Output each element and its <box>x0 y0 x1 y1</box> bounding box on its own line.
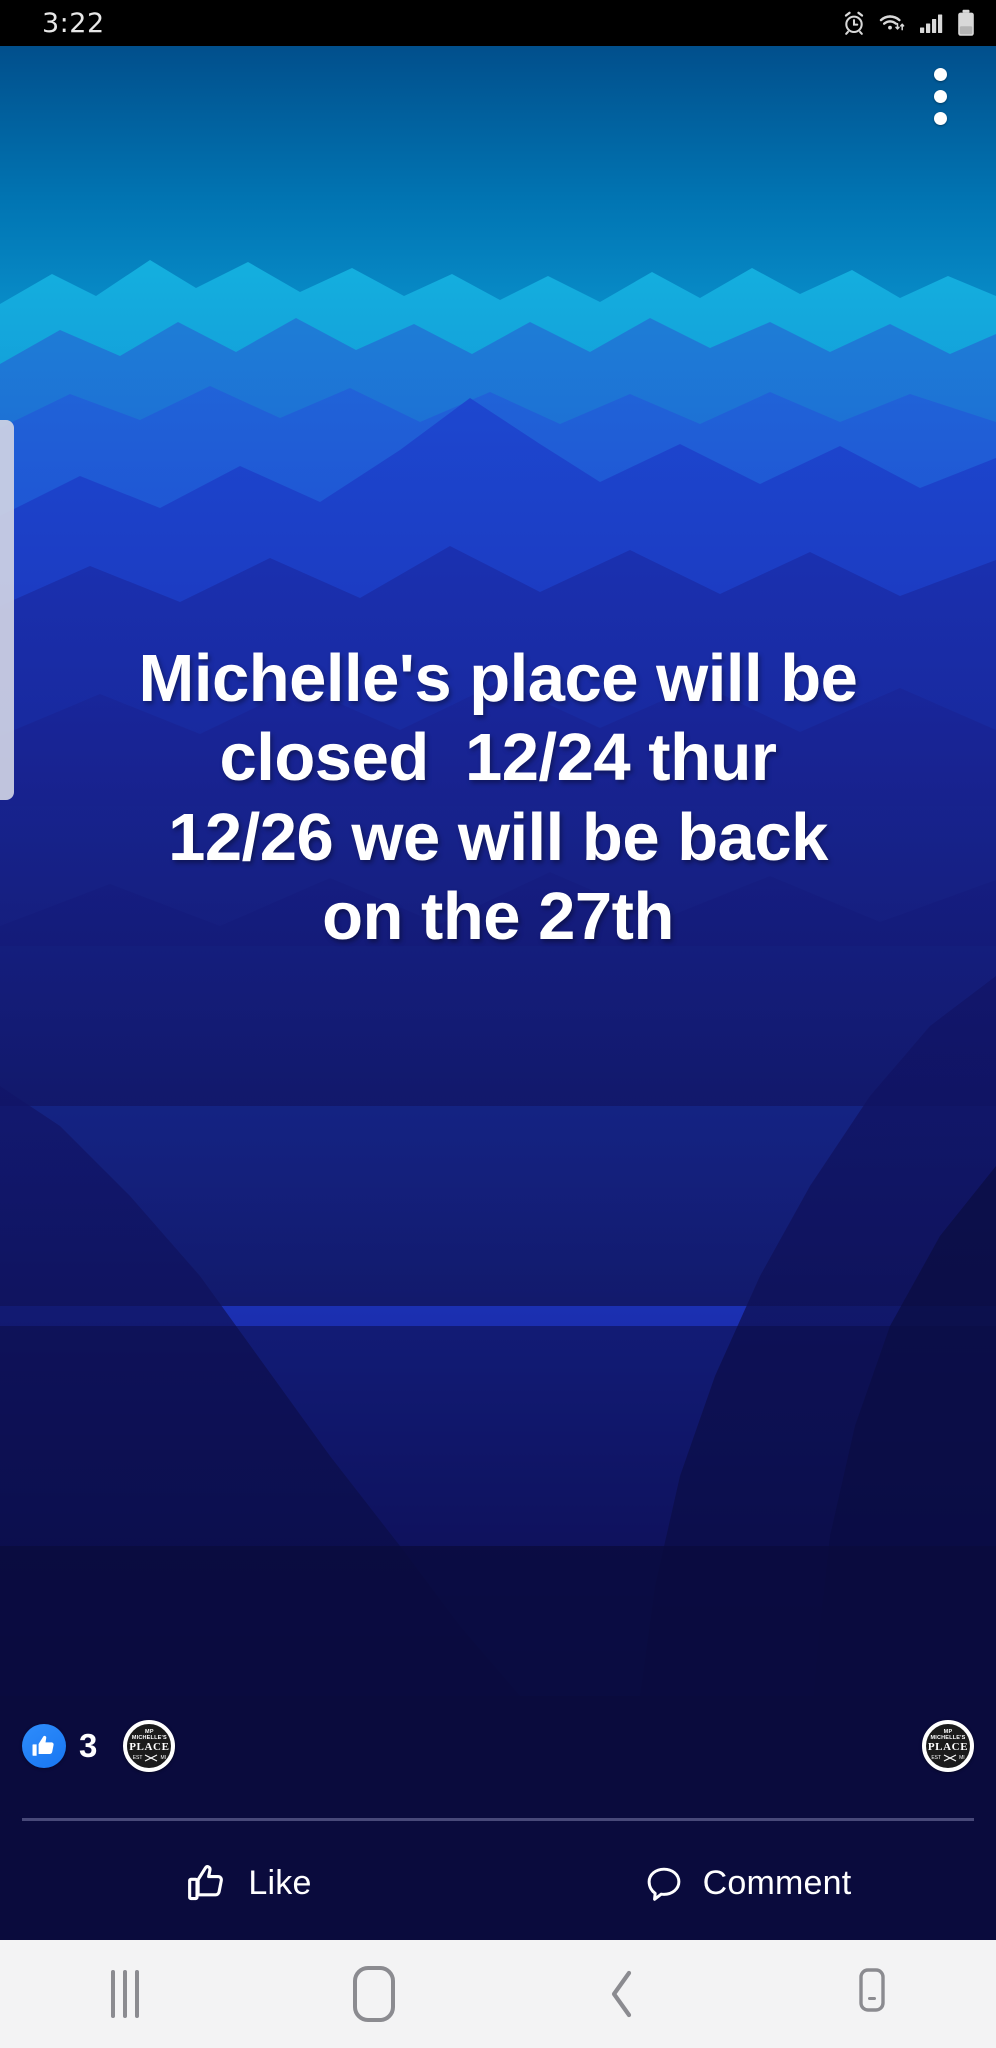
thumbs-up-glyph <box>31 1733 57 1759</box>
home-icon <box>353 1966 395 2022</box>
reaction-count: 3 <box>79 1727 97 1765</box>
recents-bar <box>135 1970 139 2018</box>
system-navigation-bar <box>0 1940 996 2048</box>
back-button[interactable] <box>498 1940 747 2048</box>
logo-bottom-row: EST MI <box>931 1754 964 1762</box>
phone-screen: Michelle's place will be closed 12/24 th… <box>0 0 996 2048</box>
crossed-utensils-icon <box>943 1754 957 1762</box>
recents-button[interactable] <box>0 1940 249 2048</box>
commenter-avatar-group: MP MICHELLE'S PLACE EST MI <box>922 1720 974 1772</box>
reaction-summary-button[interactable]: 3 <box>22 1724 97 1768</box>
action-bar-divider <box>22 1818 974 1821</box>
status-bar: 3:22 <box>0 0 996 46</box>
post-photo[interactable] <box>0 46 996 1696</box>
status-bar-icons <box>841 9 976 37</box>
mountain-illustration <box>0 46 996 1696</box>
menu-dot-icon <box>934 68 947 81</box>
recents-icon <box>111 1970 139 2018</box>
crossed-utensils-icon <box>144 1754 158 1762</box>
home-button[interactable] <box>249 1940 498 2048</box>
status-bar-clock: 3:22 <box>42 8 105 39</box>
logo-bottom-right: MI <box>160 1756 166 1761</box>
comment-button-label: Comment <box>703 1864 852 1903</box>
logo-bottom-left: EST <box>133 1756 143 1761</box>
thumbs-up-outline-icon <box>186 1861 230 1905</box>
liker-avatar[interactable]: MP MICHELLE'S PLACE EST MI <box>123 1720 175 1772</box>
like-button[interactable]: Like <box>0 1828 498 1938</box>
logo-bottom-left: EST <box>931 1756 941 1761</box>
battery-icon <box>956 9 976 37</box>
commenter-avatar[interactable]: MP MICHELLE'S PLACE EST MI <box>922 1720 974 1772</box>
speech-bubble-icon <box>643 1862 685 1904</box>
menu-dot-icon <box>934 112 947 125</box>
logo-main-text: PLACE <box>129 1742 169 1753</box>
recents-bar <box>111 1970 115 2018</box>
recents-bar <box>123 1970 127 2018</box>
comment-button[interactable]: Comment <box>498 1828 996 1938</box>
logo-bottom-row: EST MI <box>133 1754 166 1762</box>
cellular-signal-icon <box>919 11 945 35</box>
back-chevron-icon <box>603 1967 643 2021</box>
wifi-icon <box>878 10 908 36</box>
logo-bottom-right: MI <box>959 1756 965 1761</box>
post-action-bar: Like Comment <box>0 1828 996 1938</box>
vertical-scrollbar-handle[interactable] <box>0 420 14 800</box>
alarm-icon <box>841 10 867 36</box>
like-button-label: Like <box>248 1864 311 1903</box>
like-thumb-icon <box>22 1724 66 1768</box>
device-icon <box>853 1966 891 2022</box>
reactions-row: 3 MP MICHELLE'S PLACE EST MI MP MICHELLE… <box>0 1696 996 1796</box>
keyboard-hide-button[interactable] <box>747 1940 996 2048</box>
logo-main-text: PLACE <box>928 1742 968 1753</box>
menu-dot-icon <box>934 90 947 103</box>
overflow-menu-button[interactable] <box>916 60 964 132</box>
